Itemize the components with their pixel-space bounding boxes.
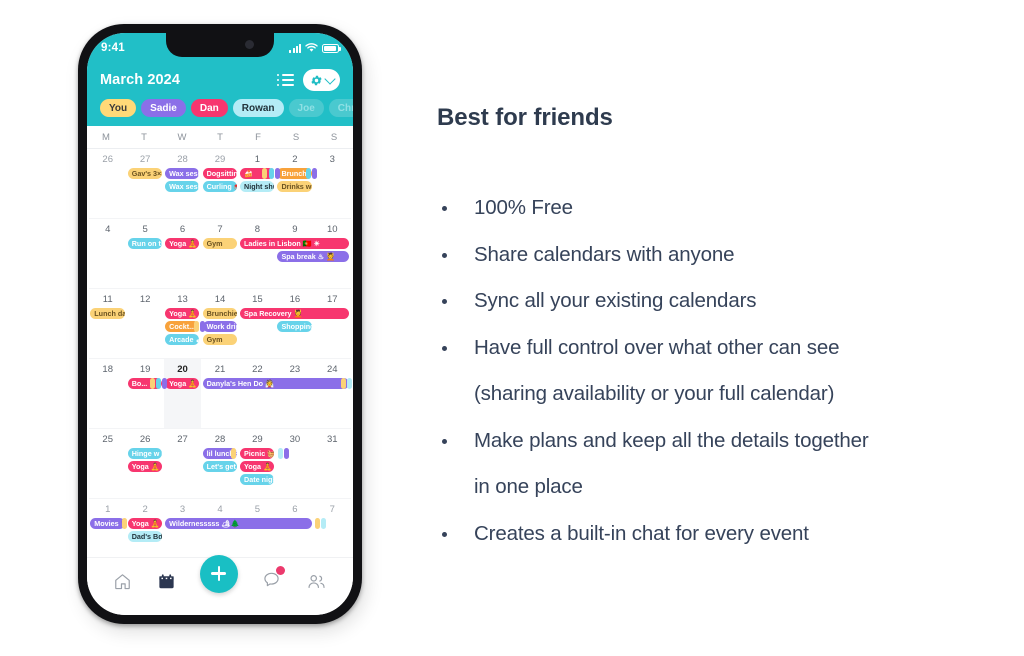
event-dot[interactable] xyxy=(262,168,267,179)
calendar-event[interactable]: Yoga 🧘 xyxy=(128,461,162,472)
events-container: Lunch dateYoga 🧘BrunchiesSpa Recovery 💆C… xyxy=(89,308,351,347)
calendar-week-row: 26272829123Gav's 3×3Wax sesh 🧴Dogsitting… xyxy=(89,149,351,219)
day-cell[interactable]: 7 xyxy=(201,224,238,235)
event-row: Spa break ♨ 💆 xyxy=(89,251,351,262)
feature-bullet: Creates a built-in chat for every event xyxy=(437,511,997,558)
day-cell[interactable]: 4 xyxy=(201,504,238,515)
day-cell[interactable]: 12 xyxy=(126,294,163,305)
app-header: March 2024 YouSadieDanRowanJoeCh xyxy=(87,63,353,126)
calendar-event[interactable]: Shopping 🛍 xyxy=(277,321,311,332)
calendar: MTWTFSS 26272829123Gav's 3×3Wax sesh 🧴Do… xyxy=(87,126,353,568)
day-cell[interactable]: 23 xyxy=(276,364,313,375)
day-cell[interactable]: 2 xyxy=(276,154,313,165)
day-cell[interactable]: 4 xyxy=(89,224,126,235)
day-cell[interactable]: 1 xyxy=(89,504,126,515)
calendar-event[interactable]: Lunch date xyxy=(90,308,124,319)
battery-icon xyxy=(322,44,339,53)
calendar-event[interactable]: Yoga 🧘 xyxy=(165,238,199,249)
weekday-label: W xyxy=(163,132,201,143)
day-cell[interactable]: 26 xyxy=(89,154,126,165)
header-actions xyxy=(277,69,340,91)
front-camera-icon xyxy=(245,40,254,49)
day-cell[interactable]: 19 xyxy=(126,364,163,375)
calendar-event[interactable]: Spa Recovery 💆 xyxy=(240,308,349,319)
day-cell[interactable]: 29 xyxy=(201,154,238,165)
page-title: Best for friends xyxy=(437,104,997,132)
day-cell[interactable]: 5 xyxy=(239,504,276,515)
day-cell[interactable]: 29 xyxy=(239,434,276,445)
phone-notch xyxy=(166,33,274,57)
status-bar-clock: 9:41 xyxy=(101,42,125,54)
events-container: Bo...Yoga 🧘Danyla's Hen Do 👰 xyxy=(89,378,351,391)
event-row: Hinge w La..lil lunch?Picnic 🧺 xyxy=(89,448,351,459)
event-dot[interactable] xyxy=(231,448,236,459)
event-dot[interactable] xyxy=(156,378,161,389)
calendar-event[interactable]: Gym xyxy=(203,238,237,249)
calendar-week-row: 11121314151617Lunch dateYoga 🧘BrunchiesS… xyxy=(89,289,351,359)
day-cell[interactable]: 3 xyxy=(164,504,201,515)
bullet-text-line2: in one place xyxy=(474,464,997,511)
person-chip[interactable]: Rowan xyxy=(233,99,284,117)
calendar-event[interactable]: Movies 🍿 xyxy=(90,518,124,529)
events-container: Run on th...Yoga 🧘GymLadies in Lisbon 🇵🇹… xyxy=(89,238,351,264)
day-cell[interactable]: 5 xyxy=(126,224,163,235)
day-cell[interactable]: 20 xyxy=(164,364,201,375)
gear-icon xyxy=(310,74,323,87)
bullet-dot xyxy=(442,253,447,258)
month-title: March 2024 xyxy=(100,72,180,88)
calendar-event[interactable]: Curling 🥌 xyxy=(203,181,237,192)
calendar-event[interactable]: Danyla's Hen Do 👰 xyxy=(203,378,350,389)
events-container: Movies 🍿Yoga 🧘Wildernesssss 🏕🌲Dad's Bday xyxy=(89,518,351,544)
day-cell[interactable]: 7 xyxy=(314,504,351,515)
day-number-row: 45678910 xyxy=(89,219,351,235)
event-dot[interactable] xyxy=(275,168,280,179)
calendar-week-row: 18192021222324Bo...Yoga 🧘Danyla's Hen Do… xyxy=(89,359,351,429)
day-number-row: 18192021222324 xyxy=(89,359,351,375)
event-dot[interactable] xyxy=(347,378,352,389)
event-row: Bo...Yoga 🧘Danyla's Hen Do 👰 xyxy=(89,378,351,389)
day-cell[interactable]: 13 xyxy=(164,294,201,305)
person-chip[interactable]: Dan xyxy=(191,99,228,117)
phone-mockup: 9:41 March 2024 xyxy=(78,24,370,632)
event-dot[interactable] xyxy=(269,168,274,179)
day-number-row: 26272829123 xyxy=(89,149,351,165)
day-cell[interactable]: 15 xyxy=(239,294,276,305)
person-chip[interactable]: You xyxy=(100,99,136,117)
people-icon[interactable] xyxy=(306,572,327,591)
feature-bullet: Sync all your existing calendars xyxy=(437,278,997,325)
calendar-event[interactable]: Wax sesh 🧴 xyxy=(165,168,199,179)
day-cell[interactable]: 27 xyxy=(126,154,163,165)
calendar-event[interactable]: Yoga 🧘 xyxy=(128,518,162,529)
calendar-event[interactable]: Run on th... xyxy=(128,238,162,249)
bottom-tab-bar xyxy=(87,557,353,615)
day-cell[interactable]: 16 xyxy=(276,294,313,305)
day-cell[interactable]: 14 xyxy=(201,294,238,305)
day-cell[interactable]: 11 xyxy=(89,294,126,305)
calendar-event[interactable]: Hinge w La.. xyxy=(128,448,162,459)
day-cell[interactable]: 21 xyxy=(201,364,238,375)
calendar-event[interactable]: Gym xyxy=(203,334,237,345)
calendar-week-row: 25262728293031Hinge w La..lil lunch?Picn… xyxy=(89,429,351,499)
event-row: Arcade 🕹Gym xyxy=(89,334,351,345)
event-dot[interactable] xyxy=(284,448,289,459)
calendar-event[interactable]: Dad's Bday xyxy=(128,531,162,542)
phone-frame: 9:41 March 2024 xyxy=(78,24,362,624)
events-container: Gav's 3×3Wax sesh 🧴Dogsitting🍰BrunchWax … xyxy=(89,168,351,194)
bullet-text-line2: (sharing availability or your full calen… xyxy=(474,371,997,418)
event-row: Run on th...Yoga 🧘GymLadies in Lisbon 🇵🇹… xyxy=(89,238,351,249)
bullet-text-line1: 100% Free xyxy=(474,185,997,232)
day-cell[interactable]: 9 xyxy=(276,224,313,235)
wifi-icon xyxy=(305,43,318,53)
feature-bullet: Make plans and keep all the details toge… xyxy=(437,418,997,511)
calendar-icon[interactable] xyxy=(157,572,176,591)
bullet-text-line1: Make plans and keep all the details toge… xyxy=(474,418,997,465)
bullet-dot xyxy=(442,346,447,351)
day-cell[interactable]: 27 xyxy=(164,434,201,445)
event-dot[interactable] xyxy=(194,321,199,332)
bullet-dot xyxy=(442,532,447,537)
chat-tab[interactable] xyxy=(262,570,281,594)
day-cell[interactable]: 8 xyxy=(239,224,276,235)
feature-bullet: Share calendars with anyone xyxy=(437,232,997,279)
list-view-icon[interactable] xyxy=(277,74,294,86)
bullet-dot xyxy=(442,206,447,211)
event-dot[interactable] xyxy=(150,378,155,389)
day-cell[interactable]: 6 xyxy=(276,504,313,515)
person-chip[interactable]: Sadie xyxy=(141,99,186,117)
calendar-event[interactable]: Work drinks xyxy=(203,321,237,332)
calendar-event[interactable]: Brunchies xyxy=(203,308,237,319)
feature-bullet: Have full control over what other can se… xyxy=(437,325,997,418)
right-panel: Best for friends 100% FreeShare calendar… xyxy=(437,104,997,557)
bullet-text-line1: Share calendars with anyone xyxy=(474,232,997,279)
event-dot[interactable] xyxy=(312,168,317,179)
event-dot[interactable] xyxy=(122,518,127,529)
day-cell[interactable]: 28 xyxy=(164,154,201,165)
calendar-event[interactable]: Spa break ♨ 💆 xyxy=(277,251,349,262)
calendar-event[interactable]: Yoga 🧘 xyxy=(165,308,199,319)
calendar-event[interactable]: Ladies in Lisbon 🇵🇹 ☀ xyxy=(240,238,349,249)
feature-bullet: 100% Free xyxy=(437,185,997,232)
weekday-header-row: MTWTFSS xyxy=(87,126,353,149)
weekday-label: T xyxy=(125,132,163,143)
event-dot[interactable] xyxy=(341,378,346,389)
signal-bars-icon xyxy=(289,44,301,53)
day-cell[interactable]: 28 xyxy=(201,434,238,445)
event-dot[interactable] xyxy=(200,321,205,332)
feature-bullet-list: 100% FreeShare calendars with anyoneSync… xyxy=(437,185,997,557)
chevron-down-icon xyxy=(324,73,335,84)
add-event-button[interactable] xyxy=(200,555,238,593)
day-cell[interactable]: 31 xyxy=(314,434,351,445)
day-cell[interactable]: 10 xyxy=(314,224,351,235)
event-row: Wax sesh 🧴Curling 🥌Night shiftDrinks wi.… xyxy=(89,181,351,192)
day-cell[interactable]: 18 xyxy=(89,364,126,375)
calendar-event[interactable]: Gav's 3×3 xyxy=(128,168,162,179)
bullet-text-line1: Have full control over what other can se… xyxy=(474,325,997,372)
weekday-label: S xyxy=(277,132,315,143)
event-row: Dad's Bday xyxy=(89,531,351,542)
event-row: Date night x xyxy=(89,474,351,485)
day-cell[interactable]: 1 xyxy=(239,154,276,165)
event-row: Lunch dateYoga 🧘BrunchiesSpa Recovery 💆 xyxy=(89,308,351,319)
event-dot[interactable] xyxy=(315,518,320,529)
weekday-label: F xyxy=(239,132,277,143)
app-header-row: March 2024 xyxy=(100,69,340,91)
weekday-label: T xyxy=(201,132,239,143)
event-dot[interactable] xyxy=(278,448,283,459)
calendar-event[interactable]: Date night x xyxy=(240,474,274,485)
calendar-event[interactable]: Arcade 🕹 xyxy=(165,334,199,345)
day-cell[interactable]: 30 xyxy=(276,434,313,445)
home-icon[interactable] xyxy=(113,572,132,591)
event-row: Yoga 🧘Let's get f...Yoga 🧘 xyxy=(89,461,351,472)
settings-button[interactable] xyxy=(303,69,340,91)
day-cell[interactable]: 26 xyxy=(126,434,163,445)
day-cell[interactable]: 6 xyxy=(164,224,201,235)
event-row: Movies 🍿Yoga 🧘Wildernesssss 🏕🌲 xyxy=(89,518,351,529)
bullet-text-line1: Sync all your existing calendars xyxy=(474,278,997,325)
day-number-row: 1234567 xyxy=(89,499,351,515)
event-dot[interactable] xyxy=(162,378,167,389)
day-number-row: 11121314151617 xyxy=(89,289,351,305)
calendar-event[interactable]: Drinks wi... xyxy=(277,181,311,192)
person-chip[interactable]: Joe xyxy=(289,99,324,117)
status-bar-icons xyxy=(289,43,339,53)
day-cell[interactable]: 17 xyxy=(314,294,351,305)
person-chip[interactable]: Chris xyxy=(329,99,353,117)
bullet-text-line1: Creates a built-in chat for every event xyxy=(474,511,997,558)
events-container: Hinge w La..lil lunch?Picnic 🧺Yoga 🧘Let'… xyxy=(89,448,351,487)
event-row: Gav's 3×3Wax sesh 🧴Dogsitting🍰Brunch xyxy=(89,168,351,179)
calendar-event[interactable]: Dogsitting xyxy=(203,168,237,179)
day-number-row: 25262728293031 xyxy=(89,429,351,445)
calendar-week-row: 45678910Run on th...Yoga 🧘GymLadies in L… xyxy=(89,219,351,289)
calendar-event[interactable]: Let's get f... xyxy=(203,461,237,472)
event-row: Cockt...Work drinksShopping 🛍 xyxy=(89,321,351,332)
calendar-event[interactable]: Yoga 🧘 xyxy=(165,378,199,389)
phone-screen: 9:41 March 2024 xyxy=(87,33,353,615)
calendar-event[interactable]: Night shift xyxy=(240,181,274,192)
calendar-event[interactable]: Wildernesssss 🏕🌲 xyxy=(165,518,312,529)
day-cell[interactable]: 2 xyxy=(126,504,163,515)
weekday-label: M xyxy=(87,132,125,143)
event-dot[interactable] xyxy=(306,168,311,179)
event-dot[interactable] xyxy=(321,518,326,529)
people-chips: YouSadieDanRowanJoeChris xyxy=(100,99,340,117)
bullet-dot xyxy=(442,299,447,304)
calendar-event[interactable]: Wax sesh 🧴 xyxy=(165,181,199,192)
calendar-weeks: 26272829123Gav's 3×3Wax sesh 🧴Dogsitting… xyxy=(87,149,353,568)
calendar-event[interactable]: Picnic 🧺 xyxy=(240,448,274,459)
weekday-label: S xyxy=(315,132,353,143)
calendar-event[interactable]: Yoga 🧘 xyxy=(240,461,274,472)
day-cell[interactable]: 3 xyxy=(314,154,351,165)
day-cell[interactable]: 25 xyxy=(89,434,126,445)
chat-unread-badge xyxy=(276,566,285,575)
bullet-dot xyxy=(442,439,447,444)
day-cell[interactable]: 22 xyxy=(239,364,276,375)
day-cell[interactable]: 24 xyxy=(314,364,351,375)
